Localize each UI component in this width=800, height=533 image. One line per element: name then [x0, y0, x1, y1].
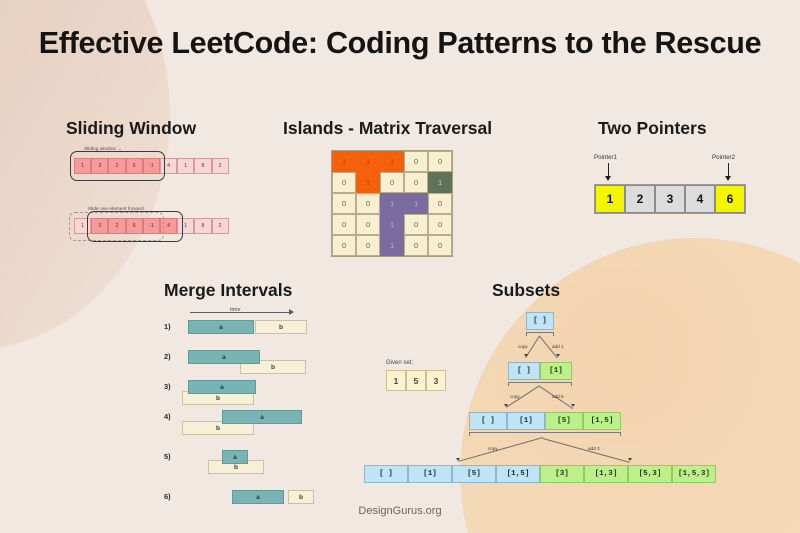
section-sliding-window: Sliding Window Sliding window → 1326-141…: [62, 118, 292, 263]
islands-cell: 0: [380, 172, 404, 193]
islands-cell: 1: [380, 214, 404, 235]
slide-canvas: Effective LeetCode: Coding Patterns to t…: [0, 0, 800, 533]
pointer1-arrow-head: [605, 176, 611, 181]
subsets-node: [1,5]: [583, 412, 621, 430]
subsets-edge: [458, 437, 543, 462]
subsets-node: [5]: [452, 465, 496, 483]
pointer2-arrow-stem: [728, 163, 729, 177]
islands-cell: 0: [428, 214, 452, 235]
subsets-level: [ ][1][5][1,5]: [469, 412, 621, 430]
islands-cell: 0: [332, 214, 356, 235]
merge-interval-bar-a: a: [188, 380, 256, 394]
given-set-cell: 5: [406, 370, 426, 391]
sliding-window-cell: 8: [194, 218, 211, 234]
section-subsets: Subsets Given set: 153 [ ][ ][1][ ][1][5…: [380, 280, 700, 505]
islands-cell: 0: [404, 151, 428, 172]
islands-cell: 1: [428, 172, 452, 193]
islands-cell: 0: [356, 214, 380, 235]
subsets-level: [ ][1][5][1,5][3][1,3][5,3][1,5,3]: [364, 465, 716, 483]
islands-cell: 0: [332, 193, 356, 214]
two-pointers-cell: 1: [595, 185, 625, 213]
subsets-node: [5]: [545, 412, 583, 430]
sliding-window-cell: 2: [212, 158, 229, 174]
islands-cell: 1: [404, 193, 428, 214]
subsets-level: [ ]: [526, 312, 554, 330]
islands-cell: 1: [356, 151, 380, 172]
subsets-edge-arrow: [571, 404, 575, 407]
given-set-label: Given set:: [386, 360, 413, 366]
merge-intervals-title: Merge Intervals: [164, 280, 292, 301]
islands-title: Islands - Matrix Traversal: [283, 118, 492, 139]
two-pointers-cell: 2: [625, 185, 655, 213]
islands-cell: 1: [380, 235, 404, 256]
subsets-node: [3]: [540, 465, 584, 483]
two-pointers-cell: 3: [655, 185, 685, 213]
islands-cell: 1: [380, 151, 404, 172]
subsets-edge-arrow: [456, 458, 460, 461]
islands-cell: 0: [332, 235, 356, 256]
subsets-brace: [469, 432, 621, 436]
subsets-node: [ ]: [364, 465, 408, 483]
merge-interval-bar-a: a: [188, 350, 260, 364]
merge-interval-bar-b: b: [255, 320, 307, 334]
merge-interval-bar-a: a: [222, 450, 248, 464]
merge-interval-case-number: 2): [164, 352, 171, 361]
section-two-pointers: Two Pointers Pointer1 Pointer2 12346: [580, 118, 795, 228]
subsets-node: [1,3]: [584, 465, 628, 483]
subsets-level: [ ][1]: [508, 362, 572, 380]
section-islands: Islands - Matrix Traversal 1110001001001…: [283, 118, 538, 268]
islands-cell: 1: [356, 172, 380, 193]
subsets-edge-label-copy: copy: [518, 344, 528, 349]
two-pointers-cell: 6: [715, 185, 745, 213]
merge-interval-bar-b: b: [288, 490, 314, 504]
islands-cell: 0: [404, 214, 428, 235]
sliding-window-cell: 8: [194, 158, 211, 174]
pointer1-label: Pointer1: [594, 154, 617, 161]
subsets-edge-arrow: [504, 404, 508, 407]
subsets-node: [1]: [540, 362, 572, 380]
two-pointers-cell: 4: [685, 185, 715, 213]
subsets-node: [ ]: [469, 412, 507, 430]
two-pointers-title: Two Pointers: [598, 118, 707, 139]
subsets-title: Subsets: [492, 280, 560, 301]
subsets-edge-arrow: [628, 458, 632, 461]
merge-interval-case-number: 3): [164, 382, 171, 391]
sliding-window-cell: 2: [212, 218, 229, 234]
two-pointers-array: 12346: [594, 184, 746, 214]
slide-footer: DesignGurus.org: [0, 505, 800, 517]
pointer1-arrow-stem: [608, 163, 609, 177]
subsets-edge-label-copy: copy: [488, 446, 498, 451]
islands-cell: 0: [428, 193, 452, 214]
subsets-node: [ ]: [508, 362, 540, 380]
islands-cell: 0: [404, 172, 428, 193]
islands-cell: 1: [332, 151, 356, 172]
given-set-cell: 3: [426, 370, 446, 391]
islands-cell: 0: [332, 172, 356, 193]
islands-cell: 0: [428, 151, 452, 172]
subsets-edge-label-copy: copy: [510, 394, 520, 399]
pointer2-arrow-head: [725, 176, 731, 181]
islands-cell: 0: [428, 235, 452, 256]
sliding-window-title: Sliding Window: [66, 118, 196, 139]
pointer2-label: Pointer2: [712, 154, 735, 161]
sliding-window-frame-2: [87, 211, 183, 242]
subsets-edge-arrow: [556, 354, 560, 357]
subsets-node: [5,3]: [628, 465, 672, 483]
merge-interval-bar-a: a: [188, 320, 254, 334]
subsets-node: [1,5,3]: [672, 465, 716, 483]
subsets-node: [1]: [408, 465, 452, 483]
subsets-edge-label-add: add 5: [552, 394, 564, 399]
slide-title: Effective LeetCode: Coding Patterns to t…: [0, 26, 800, 61]
subsets-edge-label-add: add 1: [552, 344, 564, 349]
merge-interval-case-number: 5): [164, 452, 171, 461]
merge-interval-bar-a: a: [232, 490, 284, 504]
section-merge-intervals: Merge Intervals time 1)ba2)ba3)ba4)ba5)b…: [160, 280, 370, 505]
sliding-window-cell: 1: [177, 158, 194, 174]
subsets-node: [1,5]: [496, 465, 540, 483]
subsets-node: [ ]: [526, 312, 554, 330]
merge-interval-case-number: 6): [164, 492, 171, 501]
subsets-edge: [543, 438, 630, 463]
given-set-cell: 1: [386, 370, 406, 391]
merge-interval-case-number: 1): [164, 322, 171, 331]
merge-interval-case-number: 4): [164, 412, 171, 421]
sliding-window-frame-1: [70, 151, 165, 181]
subsets-node: [1]: [507, 412, 545, 430]
time-axis-label: time: [230, 307, 241, 313]
islands-matrix: 1110001001001100010000100: [331, 150, 453, 257]
islands-cell: 0: [356, 235, 380, 256]
islands-cell: 0: [356, 193, 380, 214]
islands-cell: 0: [404, 235, 428, 256]
subsets-edge-arrow: [524, 354, 528, 357]
given-set-array: 153: [386, 370, 446, 391]
subsets-edge-label-add: add 3: [588, 446, 600, 451]
merge-interval-bar-a: a: [222, 410, 302, 424]
islands-cell: 1: [380, 193, 404, 214]
